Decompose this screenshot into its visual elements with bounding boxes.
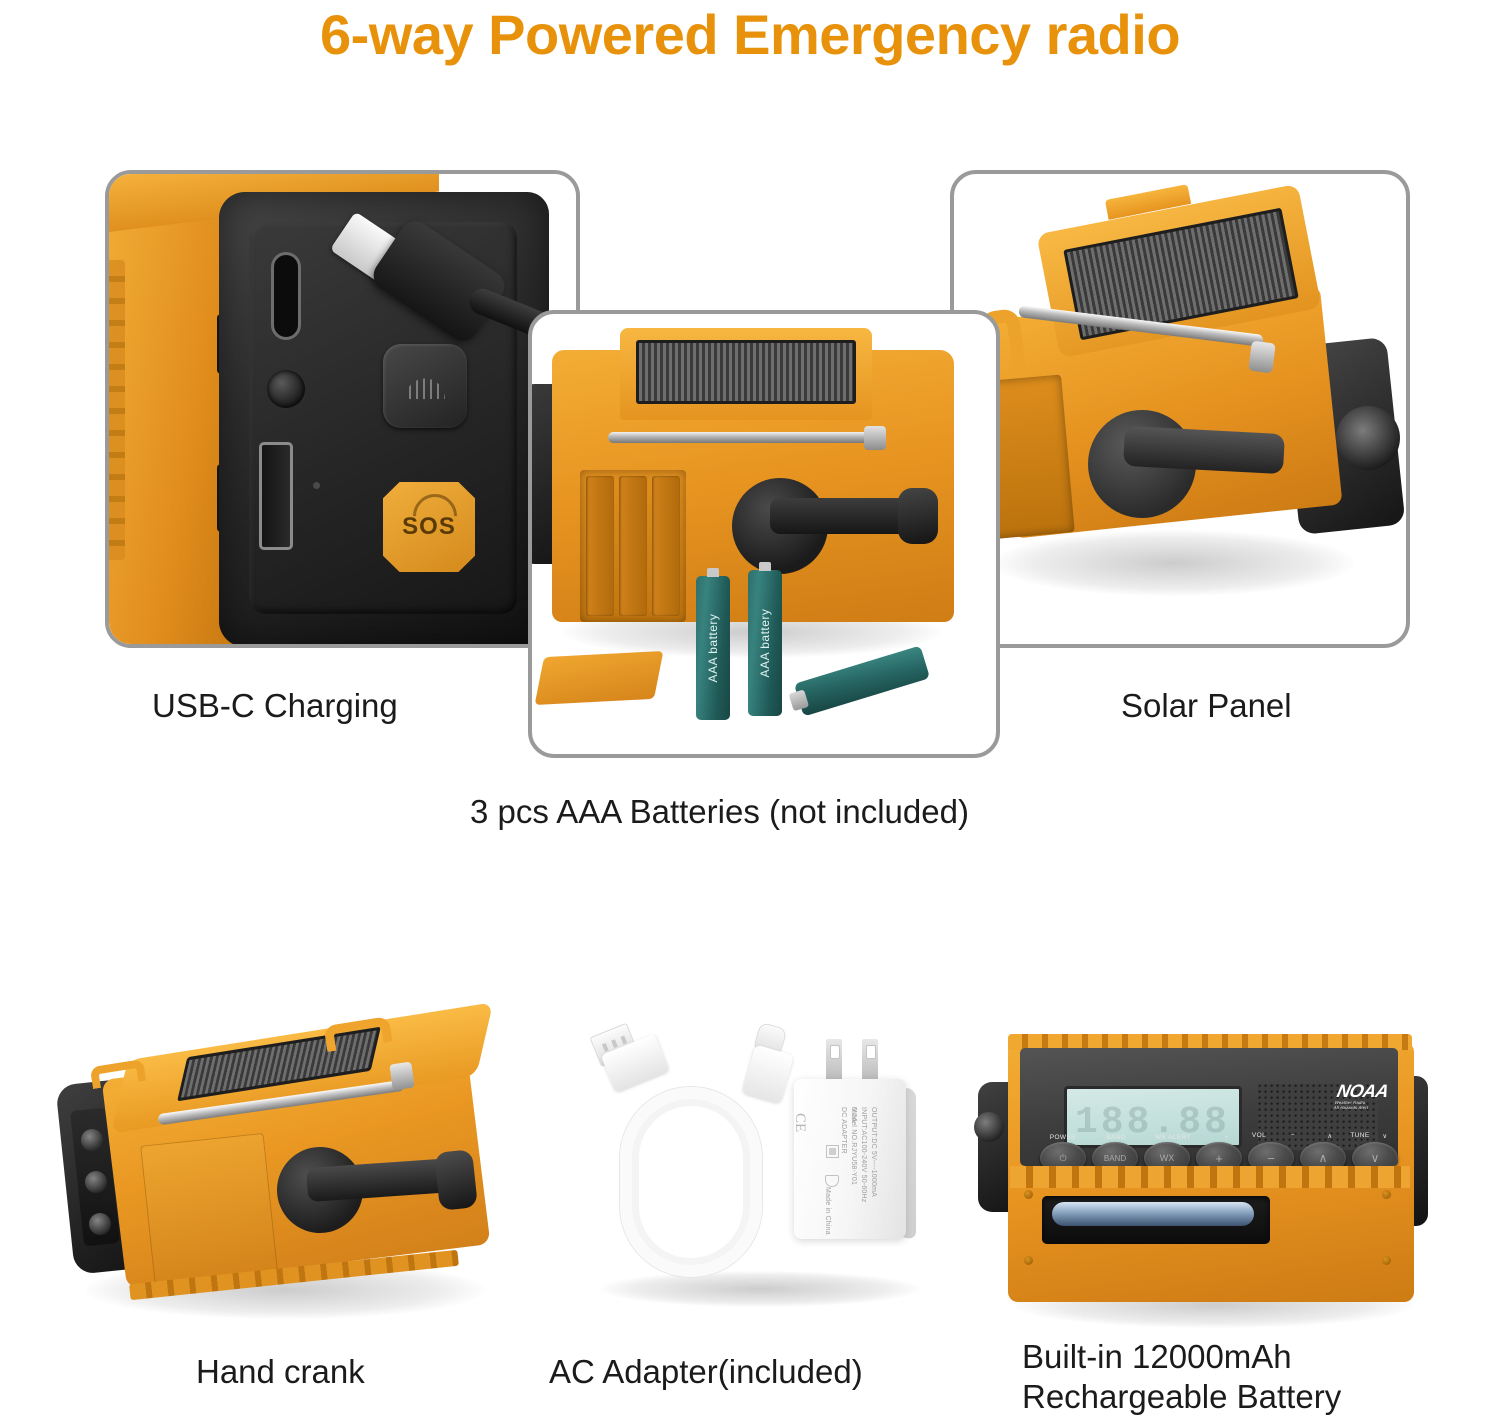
aaa-battery-compartment (580, 470, 686, 622)
sos-button-label: SOS (383, 482, 475, 572)
noaa-logo-subtext: Weather Radio All Hazards Alert (1333, 1100, 1411, 1111)
flashlight-button[interactable] (383, 344, 467, 428)
band-label: BAND (1094, 1134, 1138, 1141)
battery-slot (652, 476, 680, 616)
crank-knob[interactable] (898, 488, 938, 544)
caption-solar-panel: Solar Panel (1121, 686, 1292, 726)
solar-cell (636, 340, 856, 404)
class-ii-inner-icon (829, 1148, 836, 1155)
ce-mark: CE (791, 1113, 808, 1132)
crank-knob[interactable] (434, 1149, 478, 1211)
usb-a-port-icon (259, 442, 293, 550)
photo-hand-crank (55, 1005, 525, 1325)
charging-cable-inner (632, 1099, 750, 1265)
speaker-grille (1336, 406, 1400, 470)
usb-c-photo: SOS (105, 170, 580, 648)
antenna-hinge (1248, 341, 1275, 374)
side-knob-3[interactable] (89, 1213, 111, 1235)
adapter-print-line-4: OUTPUT:DC 5V----1000mA (868, 1107, 878, 1207)
aaa-photo: AAA battery AAA battery (532, 314, 996, 754)
minus-label: − (1278, 1132, 1308, 1139)
aaa-battery-label: AAA battery (706, 614, 720, 683)
caption-ac-adapter: AC Adapter(included) (549, 1352, 863, 1392)
aaa-battery-2: AAA battery (748, 570, 782, 716)
caption-hand-crank: Hand crank (196, 1352, 365, 1392)
solar-photo (954, 174, 1406, 644)
screw-bolt (1024, 1256, 1033, 1265)
side-knob-1[interactable] (81, 1129, 103, 1151)
photo-ac-adapter: CE DC ADAPTER Model NO.RJYU58-Y01 INPUT:… (580, 1035, 940, 1305)
battery-cover-lid (535, 651, 664, 705)
tune-down-label: ∨ (1372, 1132, 1398, 1140)
caption-aaa-batteries: 3 pcs AAA Batteries (not included) (470, 792, 969, 832)
side-knob-2[interactable] (85, 1171, 107, 1193)
control-panel: 188.88 NOAA Weather Radio All Hazards Al… (1020, 1048, 1398, 1166)
battery-slot (586, 476, 614, 616)
antenna-hinge (864, 426, 886, 450)
caption-builtin-battery: Built-in 12000mAh Rechargeable Battery (1022, 1337, 1341, 1418)
usb-c-port-icon (271, 252, 301, 340)
shell-ridges (107, 260, 125, 560)
battery-negative-cap (789, 689, 810, 711)
page-title: 6-way Powered Emergency radio (0, 2, 1500, 67)
noaa-logo: NOAA Weather Radio All Hazards Alert (1333, 1082, 1415, 1112)
photo-panel-solar-panel (950, 170, 1410, 648)
battery-slot (619, 476, 647, 616)
photo-builtin-battery: 188.88 NOAA Weather Radio All Hazards Al… (990, 1020, 1440, 1320)
caption-usb-c-charging: USB-C Charging (152, 686, 398, 726)
noaa-logo-text: NOAA (1335, 1082, 1415, 1100)
product-shadow (600, 1271, 920, 1307)
tune-up-label: ∧ (1316, 1132, 1344, 1140)
power-label: POWER (1038, 1134, 1088, 1141)
adapter-print-line-1: DC ADAPTER (838, 1107, 848, 1207)
mid-ridges (1010, 1166, 1410, 1188)
battery-positive-cap (707, 568, 719, 577)
adapter-print-line-3: INPUT:AC100-240V 50-60Hz 0.2A (848, 1107, 868, 1207)
antenna-hinge (389, 1062, 414, 1091)
side-knob[interactable] (974, 1112, 1004, 1142)
rechargeable-battery-cell (1052, 1202, 1254, 1226)
adapter-print-line-5: Made in China (822, 1187, 832, 1287)
sos-button[interactable]: SOS (383, 482, 475, 572)
battery-compartment-lid (140, 1133, 278, 1283)
crank-arm (770, 498, 916, 534)
photo-panel-usb-c-charging: SOS (105, 170, 580, 648)
builtin-battery-bay (1042, 1196, 1270, 1244)
screw-bolt (1024, 1190, 1033, 1199)
headphone-jack-icon (267, 370, 305, 408)
screw-bolt (1382, 1256, 1391, 1265)
ac-prong-left (826, 1039, 842, 1083)
battery-positive-cap (759, 562, 771, 571)
plus-label: + (1210, 1134, 1244, 1141)
screw-bolt (1382, 1190, 1391, 1199)
led-pin-icon (313, 482, 320, 489)
aaa-battery-label: AAA battery (758, 609, 772, 678)
ac-prong-right (862, 1039, 878, 1083)
usb-c-plug-housing (742, 1044, 794, 1103)
photo-panel-aaa-batteries: AAA battery AAA battery (528, 310, 1000, 758)
crank-arm (1123, 426, 1285, 474)
wx-alert-label: WX ALERT (1144, 1134, 1202, 1141)
product-shadow (994, 530, 1354, 596)
aaa-battery-1: AAA battery (696, 576, 730, 720)
telescopic-antenna[interactable] (608, 432, 874, 443)
vol-label: VOL (1242, 1132, 1276, 1139)
